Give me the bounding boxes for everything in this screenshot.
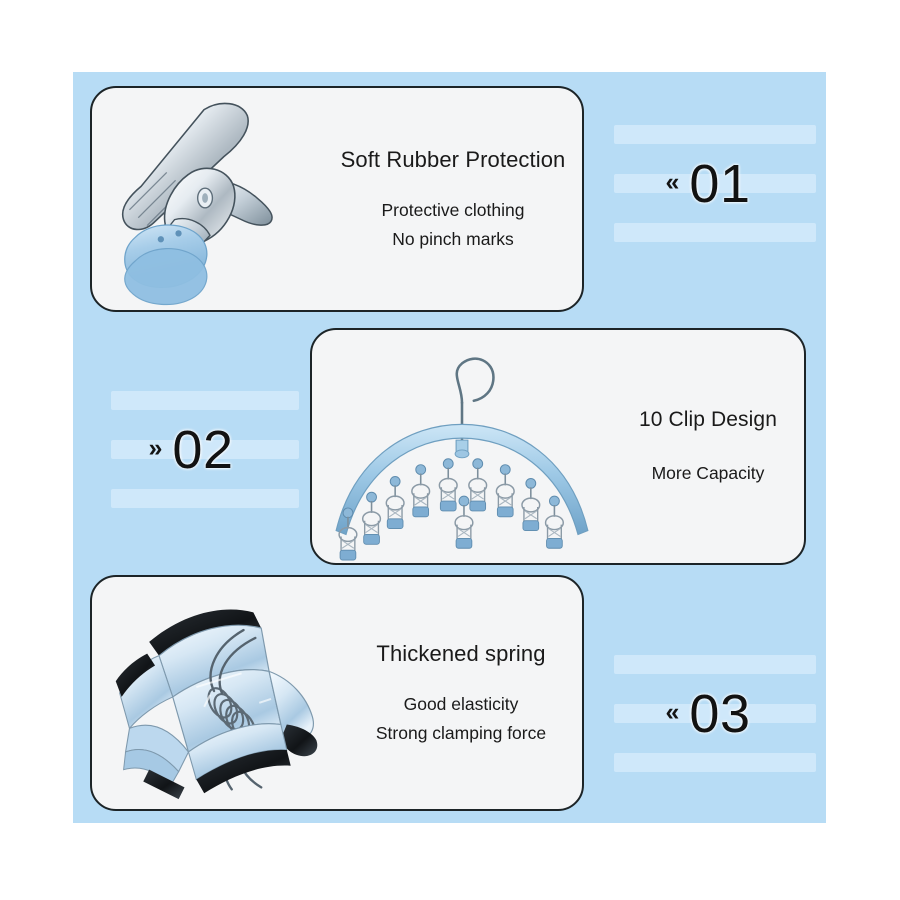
feature-subtitle-3-b: Strong clamping force: [376, 722, 546, 745]
feature-card-3[interactable]: Thickened spring Good elasticity Strong …: [90, 575, 584, 811]
feature-card-1[interactable]: Soft Rubber Protection Protective clothi…: [90, 86, 584, 312]
feature-subtitle-2-a: More Capacity: [652, 462, 765, 485]
feature-badge-2: » 02: [75, 384, 307, 516]
feature-number-3: 03: [689, 687, 750, 741]
feature-subtitles-1: Protective clothing No pinch marks: [382, 199, 525, 251]
feature-illustration-hanger-clips: [312, 330, 612, 563]
feature-illustration-clip-rubber: [92, 88, 324, 310]
feature-title-3: Thickened spring: [376, 641, 545, 667]
badge-stripe-bottom: [614, 753, 816, 772]
feature-subtitles-3: Good elasticity Strong clamping force: [376, 693, 546, 745]
feature-subtitle-3-a: Good elasticity: [376, 693, 546, 716]
badge-stripe-bottom: [614, 223, 816, 242]
chevron-right-icon: »: [149, 436, 161, 461]
feature-badge-3: « 03: [592, 648, 824, 780]
feature-subtitles-2: More Capacity: [652, 462, 765, 485]
feature-title-1: Soft Rubber Protection: [341, 147, 566, 173]
badge-stripe-top: [614, 655, 816, 674]
badge-stripe-bottom: [111, 489, 299, 508]
badge-stripe-top: [614, 125, 816, 144]
feature-card-2[interactable]: 10 Clip Design More Capacity: [310, 328, 806, 565]
infographic-root: Soft Rubber Protection Protective clothi…: [0, 0, 900, 900]
feature-number-2: 02: [172, 423, 233, 477]
feature-illustration-spring-clip: [92, 577, 340, 809]
chevron-left-icon: «: [666, 170, 678, 195]
feature-subtitle-1-b: No pinch marks: [382, 228, 525, 251]
badge-stripe-top: [111, 391, 299, 410]
feature-badge-1: « 01: [592, 118, 824, 250]
chevron-left-icon: «: [666, 700, 678, 725]
feature-subtitle-1-a: Protective clothing: [382, 199, 525, 222]
feature-title-2: 10 Clip Design: [639, 407, 777, 432]
feature-number-1: 01: [689, 157, 750, 211]
